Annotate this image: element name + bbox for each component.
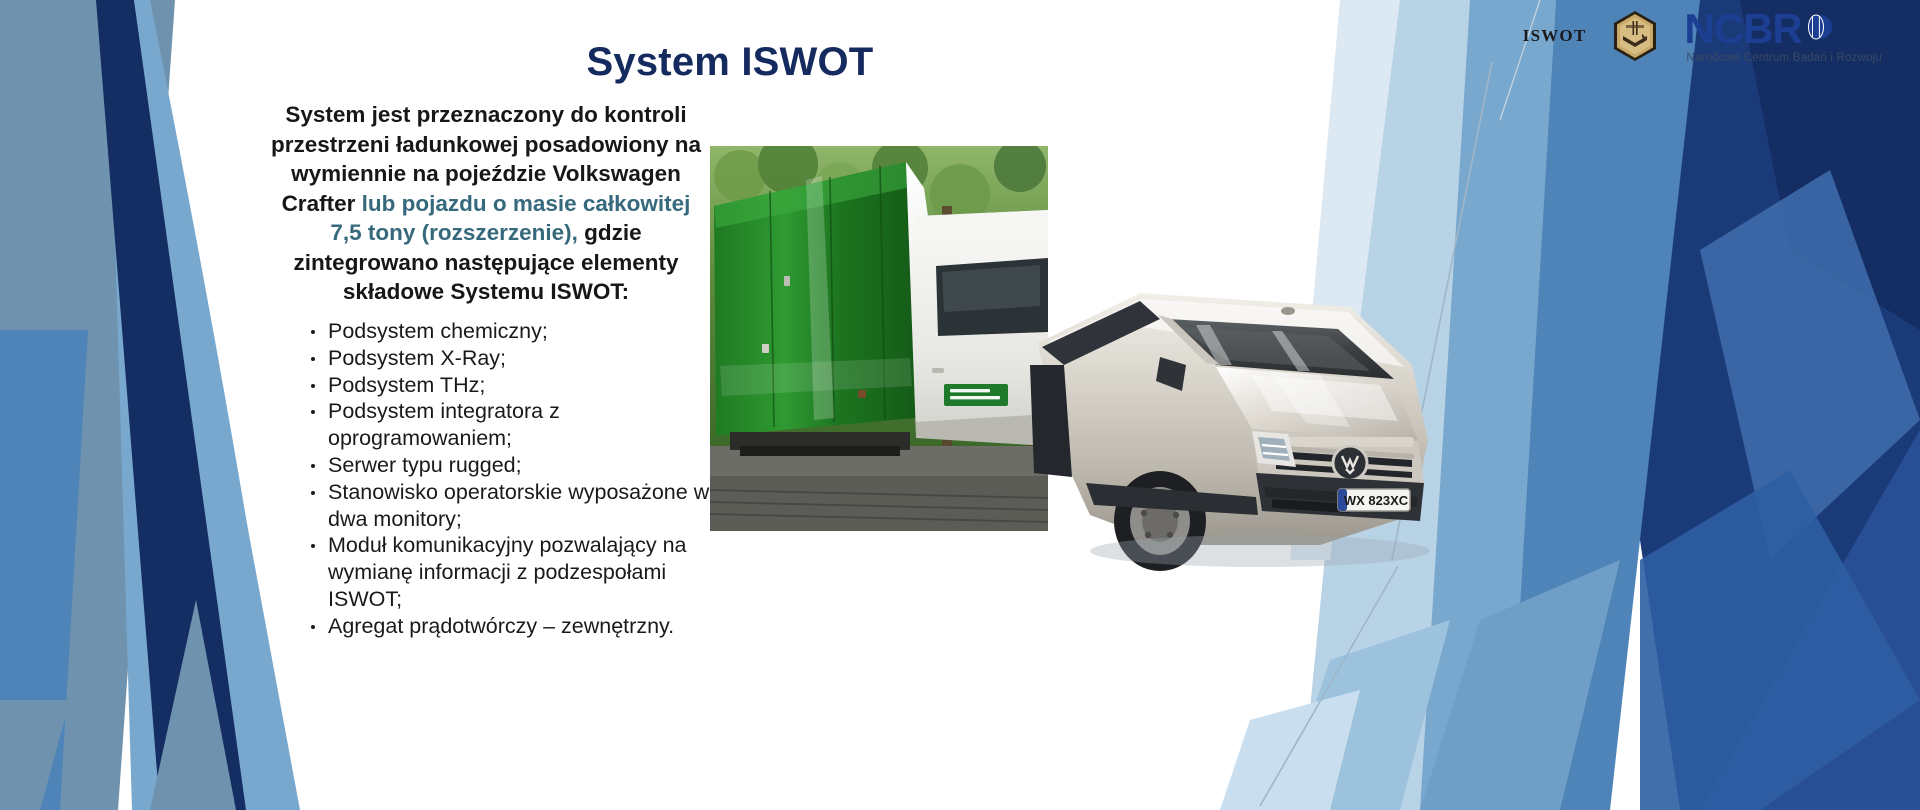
logo-bar: ISWOT NCBR — [1523, 8, 1882, 64]
list-item: Podsystem THz; — [300, 372, 720, 399]
license-plate-text: WX 823XC — [1344, 493, 1409, 508]
presentation-slide: ISWOT NCBR — [0, 0, 1920, 810]
volkswagen-crafter-van-photo: WX 823XC — [1020, 215, 1540, 635]
ncbr-wordmark: NCBR — [1684, 8, 1801, 50]
page-title: System ISWOT — [430, 40, 1030, 85]
component-list: Podsystem chemiczny; Podsystem X-Ray; Po… — [300, 318, 720, 640]
list-item: Podsystem X-Ray; — [300, 345, 720, 372]
list-item: Stanowisko operatorskie wyposażone w dwa… — [300, 479, 720, 533]
ncbr-logo: NCBR Narodowe Centrum Badań i Rozwoju — [1684, 8, 1882, 64]
intro-paragraph: System jest przeznaczony do kontroli prz… — [266, 100, 706, 307]
list-item: Podsystem integratora z oprogramowaniem; — [300, 398, 720, 452]
list-item: Podsystem chemiczny; — [300, 318, 720, 345]
iswot-hex-logo-icon — [1612, 10, 1658, 62]
ncbr-sphere-icon — [1807, 14, 1833, 45]
list-item: Agregat prądotwórczy – zewnętrzny. — [300, 613, 720, 640]
iswot-wordmark: ISWOT — [1523, 26, 1587, 46]
green-box-truck-photo — [710, 146, 1048, 531]
list-item: Moduł komunikacyjny pozwalający na wymia… — [300, 532, 720, 612]
list-item: Serwer typu rugged; — [300, 452, 720, 479]
ncbr-subtitle: Narodowe Centrum Badań i Rozwoju — [1686, 52, 1882, 64]
